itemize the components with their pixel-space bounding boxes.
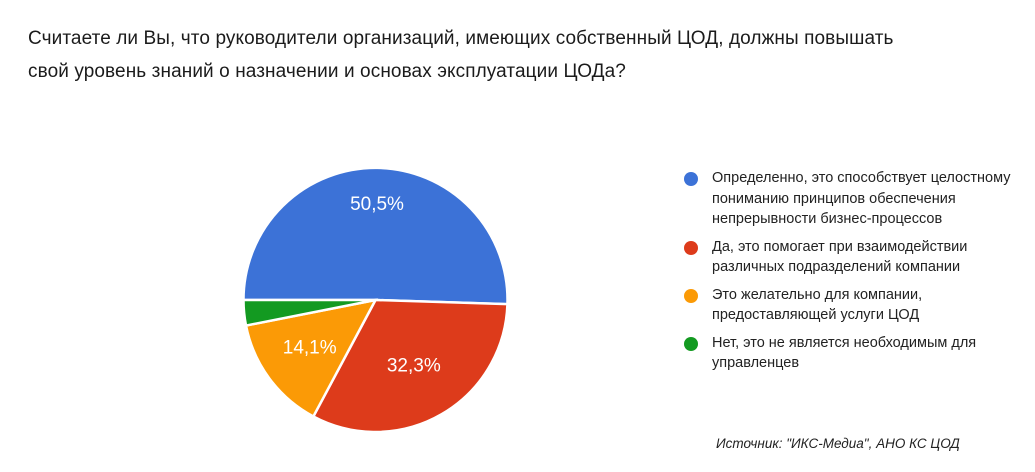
legend-item-label: Это желательно для компании, предоставля… bbox=[712, 285, 1030, 326]
legend-color-swatch-icon bbox=[684, 241, 698, 255]
legend-item-3[interactable]: Нет, это не является необходимым для упр… bbox=[680, 333, 1030, 374]
pie-chart: 50,5%32,3%14,1% bbox=[0, 0, 660, 472]
legend-item-2[interactable]: Это желательно для компании, предоставля… bbox=[680, 285, 1030, 326]
legend-item-0[interactable]: Определенно, это способствует целостному… bbox=[680, 168, 1030, 230]
source-attribution: Источник: "ИКС-Медиа", АНО КС ЦОД bbox=[716, 436, 960, 451]
legend-item-label: Нет, это не является необходимым для упр… bbox=[712, 333, 1030, 374]
legend-color-swatch-icon bbox=[684, 337, 698, 351]
legend-item-label: Да, это помогает при взаимодействии разл… bbox=[712, 237, 1030, 278]
legend-item-label: Определенно, это способствует целостному… bbox=[712, 168, 1030, 230]
legend-color-swatch-icon bbox=[684, 289, 698, 303]
pie-slice-value-label: 50,5% bbox=[350, 194, 404, 215]
pie-slice[interactable] bbox=[243, 168, 507, 304]
chart-legend: Определенно, это способствует целостному… bbox=[680, 168, 1030, 381]
pie-slice-value-label: 32,3% bbox=[387, 355, 441, 376]
legend-color-swatch-icon bbox=[684, 172, 698, 186]
legend-item-1[interactable]: Да, это помогает при взаимодействии разл… bbox=[680, 237, 1030, 278]
pie-slice-value-label: 14,1% bbox=[283, 338, 337, 359]
pie-chart-svg: 50,5%32,3%14,1% bbox=[0, 0, 660, 472]
